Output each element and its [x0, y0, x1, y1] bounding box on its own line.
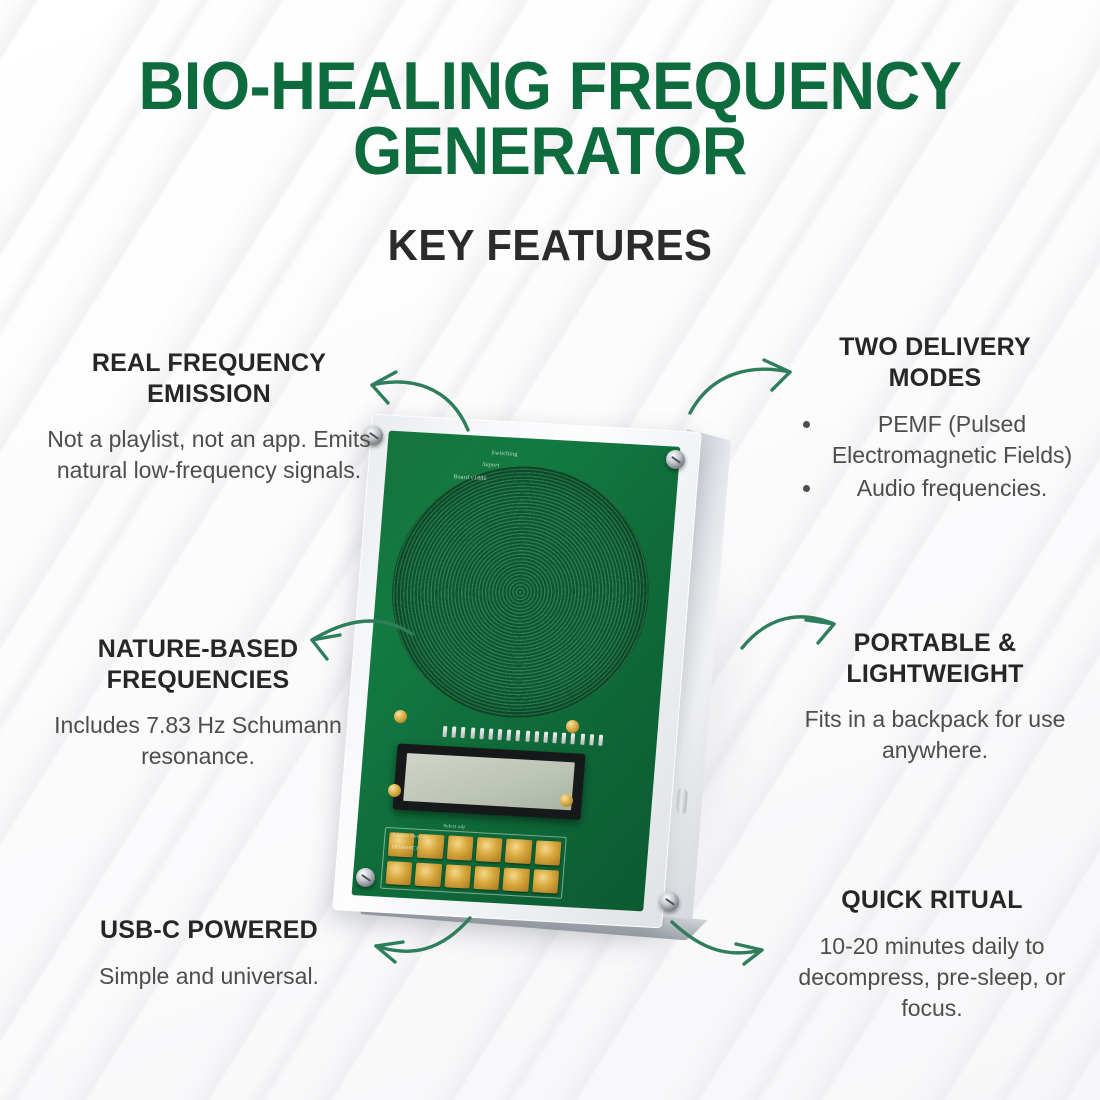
list-item: Audio frequencies. — [824, 473, 1080, 504]
keypad-button[interactable] — [415, 862, 442, 887]
feature-title: REAL FREQUENCY EMISSION — [44, 348, 374, 409]
silkscreen-label-1: Switching — [491, 450, 518, 457]
keypad-button[interactable] — [505, 839, 532, 864]
feature-title: QUICK RITUAL — [782, 885, 1082, 916]
feature-title: NATURE-BASED FREQUENCIES — [38, 634, 358, 695]
page-title-line-2: GENERATOR — [39, 119, 1062, 184]
feature-title: TWO DELIVERY MODES — [790, 332, 1080, 393]
product-device-image: Switching Suport Board v1886 Select adj … — [330, 398, 780, 953]
usb-c-port[interactable] — [676, 787, 688, 815]
feature-body: 10-20 minutes daily to decompress, pre-s… — [782, 931, 1082, 1025]
keypad-button[interactable] — [446, 835, 473, 860]
feature-quick-ritual: QUICK RITUAL 10-20 minutes daily to deco… — [782, 885, 1082, 1024]
keypad-button[interactable] — [473, 865, 500, 890]
feature-body: Includes 7.83 Hz Schumann resonance. — [38, 710, 358, 773]
keypad-button[interactable] — [503, 867, 530, 892]
brass-standoff — [566, 720, 579, 733]
pcb-board: Switching Suport Board v1886 Select adj … — [351, 431, 680, 912]
page-title-line-1: BIO-HEALING FREQUENCY — [39, 54, 1062, 119]
feature-two-delivery-modes: TWO DELIVERY MODES PEMF (Pulsed Electrom… — [790, 332, 1080, 505]
keypad-button[interactable] — [444, 864, 471, 889]
feature-real-frequency-emission: REAL FREQUENCY EMISSION Not a playlist, … — [44, 348, 374, 487]
silkscreen-label-2: Suport — [482, 462, 500, 469]
pin-header-strip — [442, 726, 603, 746]
case-screw — [660, 892, 679, 911]
keypad-button[interactable] — [534, 840, 561, 865]
spiral-coil-antenna — [382, 459, 658, 724]
lcd-screen — [403, 753, 575, 810]
case-screw — [666, 450, 685, 469]
feature-nature-based-frequencies: NATURE-BASED FREQUENCIES Includes 7.83 H… — [38, 634, 358, 773]
feature-portable-lightweight: PORTABLE & LIGHTWEIGHT Fits in a backpac… — [790, 628, 1080, 767]
brass-standoff — [560, 794, 573, 807]
page-title: BIO-HEALING FREQUENCY GENERATOR — [39, 54, 1062, 185]
feature-title: USB-C POWERED — [44, 915, 374, 946]
keypad-button[interactable] — [476, 837, 503, 862]
case-screw — [356, 868, 375, 887]
feature-body: Not a playlist, not an app. Emits natura… — [44, 424, 374, 487]
brass-standoff — [394, 710, 407, 723]
feature-title: PORTABLE & LIGHTWEIGHT — [790, 628, 1080, 689]
feature-body: Fits in a backpack for use anywhere. — [790, 704, 1080, 767]
lcd-display-module — [393, 743, 586, 819]
feature-bullet-list: PEMF (Pulsed Electromagnetic Fields) Aud… — [790, 409, 1080, 503]
keypad-button[interactable] — [385, 861, 412, 886]
page-subtitle: KEY FEATURES — [28, 221, 1073, 271]
silkscreen-label-3: Board v1886 — [453, 474, 487, 482]
keypad-button[interactable] — [532, 869, 559, 894]
feature-usb-c-powered: USB-C POWERED Simple and universal. — [44, 915, 374, 992]
list-item: PEMF (Pulsed Electromagnetic Fields) — [824, 409, 1080, 471]
brass-standoff — [388, 784, 401, 797]
feature-body: Simple and universal. — [44, 961, 374, 992]
header: BIO-HEALING FREQUENCY GENERATOR KEY FEAT… — [0, 54, 1100, 271]
